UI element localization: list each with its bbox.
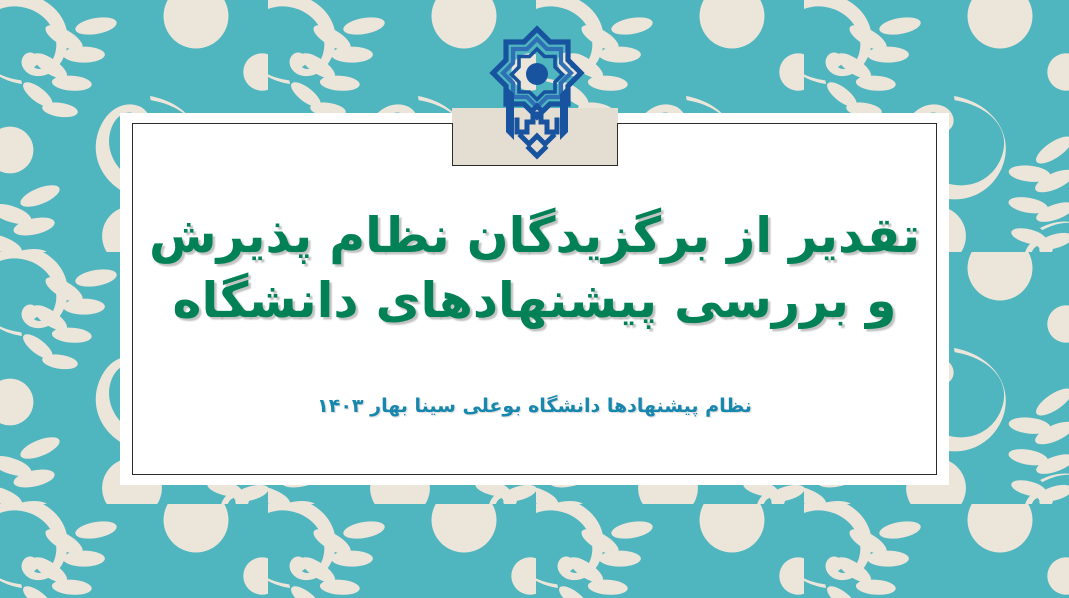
page-title: تقدیر از برگزیدگان نظام پذیرش و بررسی پی…	[143, 203, 926, 333]
card-text-block: تقدیر از برگزیدگان نظام پذیرش و بررسی پی…	[132, 123, 937, 475]
slide-subtitle: نظام پیشنهادها دانشگاه بوعلی سینا بهار ۱…	[317, 395, 752, 417]
presentation-slide: تقدیر از برگزیدگان نظام پذیرش و بررسی پی…	[0, 0, 1069, 598]
